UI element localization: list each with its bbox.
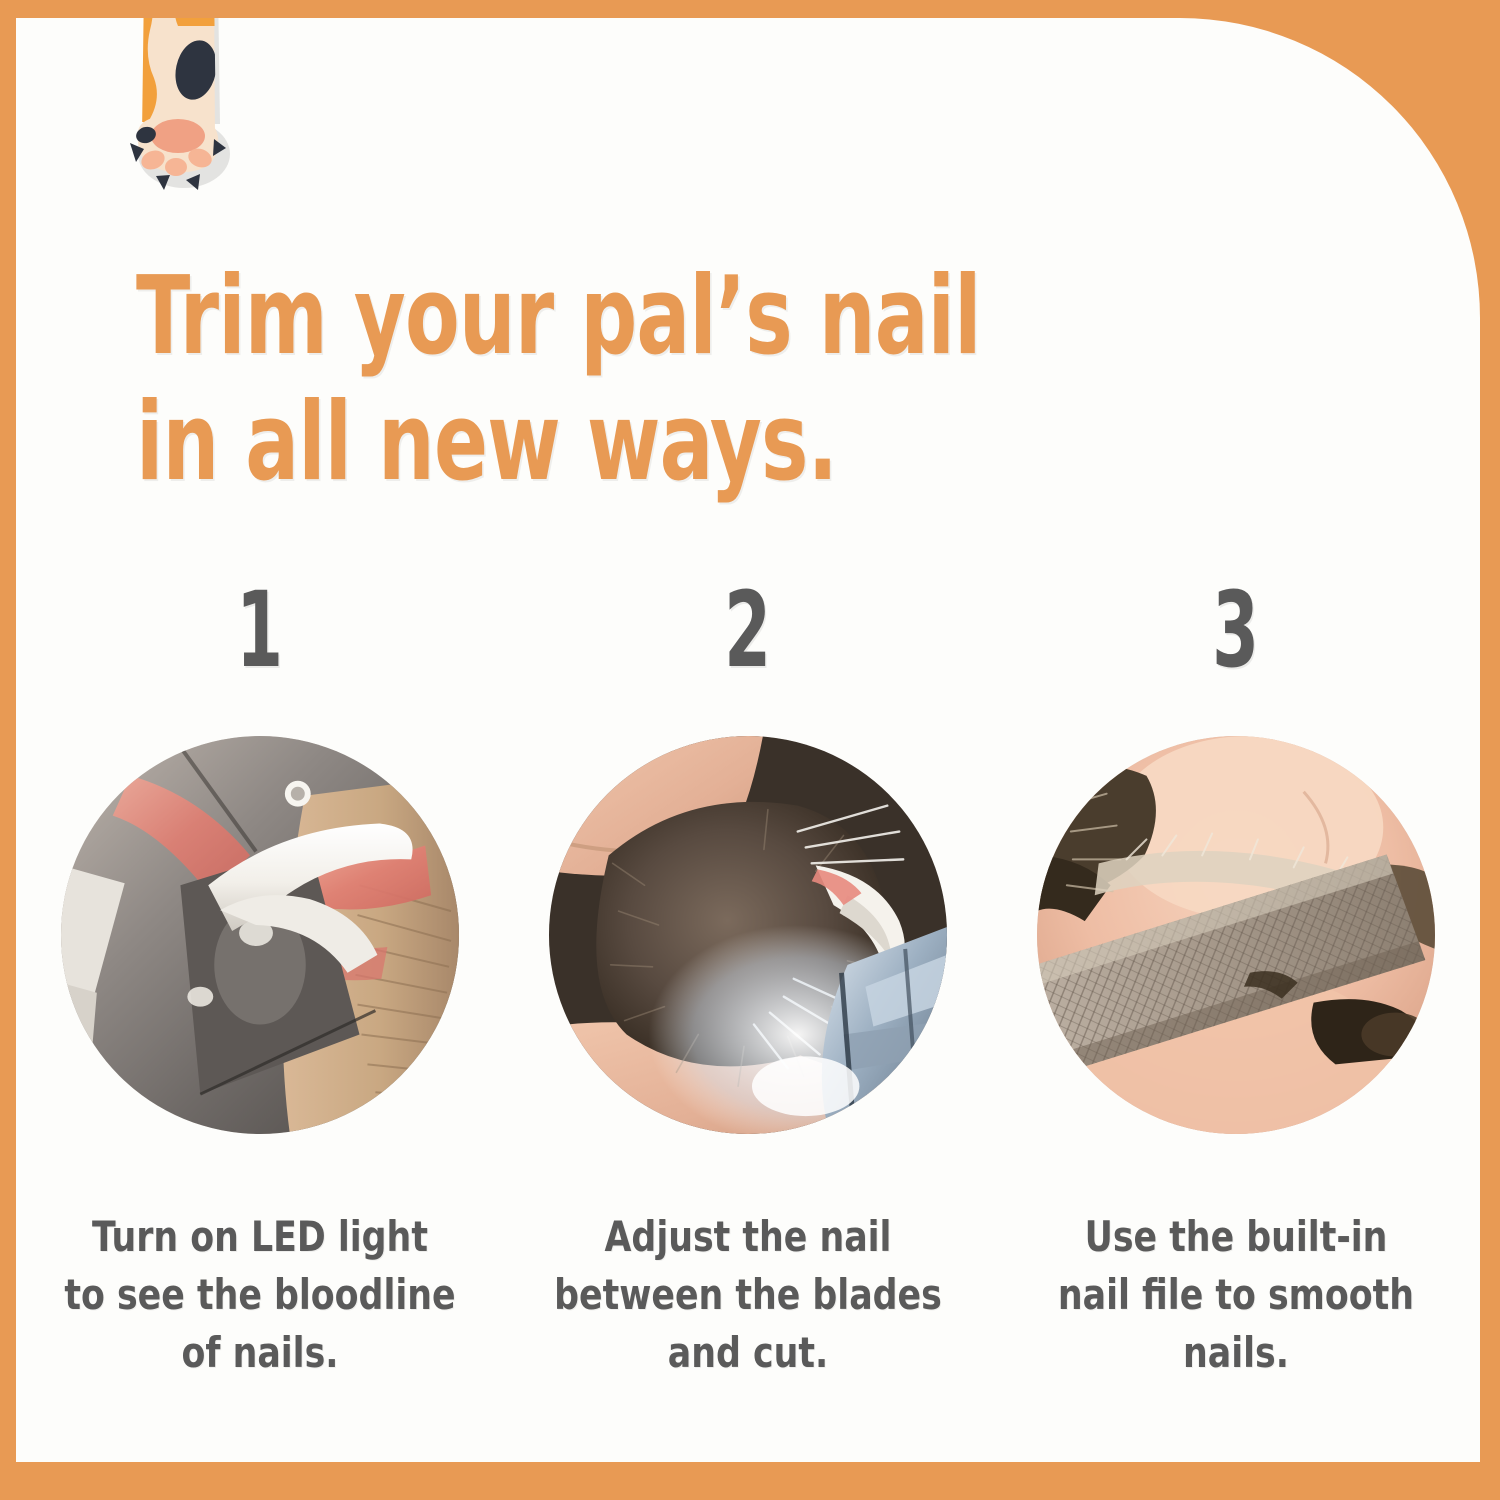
step-caption-line: nails. xyxy=(1038,1324,1434,1382)
step-number: 1 xyxy=(237,578,284,688)
page-title-line-2: in all new ways. xyxy=(136,380,956,506)
step-number: 3 xyxy=(1213,578,1260,688)
adjust-nail-between-blades-photo xyxy=(549,736,947,1134)
nail-file-smooth-photo xyxy=(1037,736,1435,1134)
page-title: Trim your pal’s nail in all new ways. xyxy=(136,254,1136,506)
step-caption-line: Turn on LED light xyxy=(62,1208,458,1266)
step-caption-line: to see the bloodline xyxy=(62,1266,458,1324)
step-caption: Turn on LED light to see the bloodline o… xyxy=(62,1208,458,1382)
step-1: 1 xyxy=(16,578,504,1382)
step-caption-line: and cut. xyxy=(550,1324,946,1382)
page-title-line-1: Trim your pal’s nail xyxy=(136,254,956,380)
cat-paw-icon xyxy=(118,18,238,204)
step-caption: Use the built-in nail file to smooth nai… xyxy=(1038,1208,1434,1382)
step-caption-line: between the blades xyxy=(550,1266,946,1324)
step-caption-line: Adjust the nail xyxy=(550,1208,946,1266)
step-2: 2 xyxy=(504,578,992,1382)
step-caption-line: nail file to smooth xyxy=(1038,1266,1434,1324)
step-caption: Adjust the nail between the blades and c… xyxy=(550,1208,946,1382)
led-light-bloodline-photo xyxy=(61,736,459,1134)
step-caption-line: Use the built-in xyxy=(1038,1208,1434,1266)
step-caption-line: of nails. xyxy=(62,1324,458,1382)
step-number: 2 xyxy=(725,578,772,688)
steps-row: 1 xyxy=(16,578,1480,1382)
step-3: 3 xyxy=(992,578,1480,1382)
white-content-card: Trim your pal’s nail in all new ways. 1 xyxy=(16,18,1480,1462)
product-infographic-page: Trim your pal’s nail in all new ways. 1 xyxy=(0,0,1500,1500)
